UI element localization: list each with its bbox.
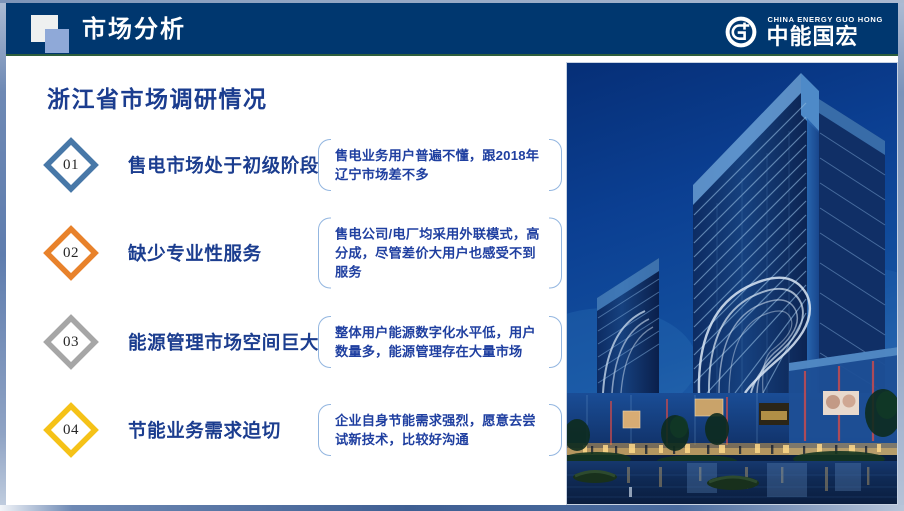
bracket-left-icon bbox=[318, 404, 331, 456]
frame-edge-left bbox=[0, 0, 6, 511]
item-label: 能源管理市场空间巨大 bbox=[128, 329, 319, 355]
header-underline bbox=[4, 54, 901, 56]
header-bar: 市场分析 CHINA ENERGY GUO HONG 中能国宏 bbox=[4, 3, 901, 55]
callout-text: 企业自身节能需求强烈，愿意去尝试新技术，比较好沟通 bbox=[335, 413, 536, 447]
item-label: 节能业务需求迫切 bbox=[128, 417, 281, 443]
item-number: 01 bbox=[44, 138, 98, 192]
callout-bubble: 售电业务用户普遍不懂，跟2018年辽宁市场差不多 bbox=[318, 139, 562, 191]
diamond-marker-04-icon: 04 bbox=[44, 403, 98, 457]
list-item: 04 节能业务需求迫切 企业自身节能需求强烈，愿意去尝试新技术，比较好沟通 bbox=[36, 391, 566, 469]
circle-g-logo-icon bbox=[723, 14, 759, 50]
diamond-marker-01-icon: 01 bbox=[44, 138, 98, 192]
frame-edge-right bbox=[898, 0, 904, 511]
bracket-right-icon bbox=[549, 139, 562, 191]
callout-text: 售电公司/电厂均采用外联模式，高分成，尽管差价大用户也感受不到服务 bbox=[335, 227, 540, 280]
callout-bubble: 整体用户能源数字化水平低，用户数量多，能源管理存在大量市场 bbox=[318, 316, 562, 368]
item-number: 02 bbox=[44, 226, 98, 280]
item-number: 04 bbox=[44, 403, 98, 457]
bracket-right-icon bbox=[549, 218, 562, 289]
logo-chinese-text: 中能国宏 bbox=[766, 25, 883, 49]
slide-canvas: 市场分析 CHINA ENERGY GUO HONG 中能国宏 浙江省市场调研情… bbox=[0, 0, 904, 511]
list-item: 01 售电市场处于初级阶段 售电业务用户普遍不懂，跟2018年辽宁市场差不多 bbox=[36, 126, 566, 204]
item-label: 缺少专业性服务 bbox=[128, 240, 262, 266]
company-logo: CHINA ENERGY GUO HONG 中能国宏 bbox=[723, 11, 883, 53]
logo-english-text: CHINA ENERGY GUO HONG bbox=[767, 15, 883, 24]
section-title: 浙江省市场调研情况 bbox=[47, 80, 268, 114]
bracket-left-icon bbox=[318, 316, 331, 368]
frame-edge-top bbox=[0, 0, 904, 3]
bracket-left-icon bbox=[318, 218, 331, 289]
callout-text: 整体用户能源数字化水平低，用户数量多，能源管理存在大量市场 bbox=[335, 325, 536, 359]
frame-edge-bottom bbox=[0, 505, 904, 511]
bracket-right-icon bbox=[549, 404, 562, 456]
callout-text: 售电业务用户普遍不懂，跟2018年辽宁市场差不多 bbox=[335, 148, 539, 182]
item-number: 03 bbox=[44, 315, 98, 369]
bracket-right-icon bbox=[549, 316, 562, 368]
item-label: 售电市场处于初级阶段 bbox=[128, 152, 319, 178]
diamond-marker-02-icon: 02 bbox=[44, 226, 98, 280]
building-photo bbox=[566, 62, 898, 505]
page-title: 市场分析 bbox=[82, 15, 186, 45]
bracket-left-icon bbox=[318, 139, 331, 191]
header-square-blue-icon bbox=[45, 29, 69, 53]
list-item: 03 能源管理市场空间巨大 整体用户能源数字化水平低，用户数量多，能源管理存在大… bbox=[36, 303, 566, 381]
callout-bubble: 企业自身节能需求强烈，愿意去尝试新技术，比较好沟通 bbox=[318, 404, 562, 456]
callout-bubble: 售电公司/电厂均采用外联模式，高分成，尽管差价大用户也感受不到服务 bbox=[318, 218, 562, 289]
list-item: 02 缺少专业性服务 售电公司/电厂均采用外联模式，高分成，尽管差价大用户也感受… bbox=[36, 214, 566, 292]
diamond-marker-03-icon: 03 bbox=[44, 315, 98, 369]
